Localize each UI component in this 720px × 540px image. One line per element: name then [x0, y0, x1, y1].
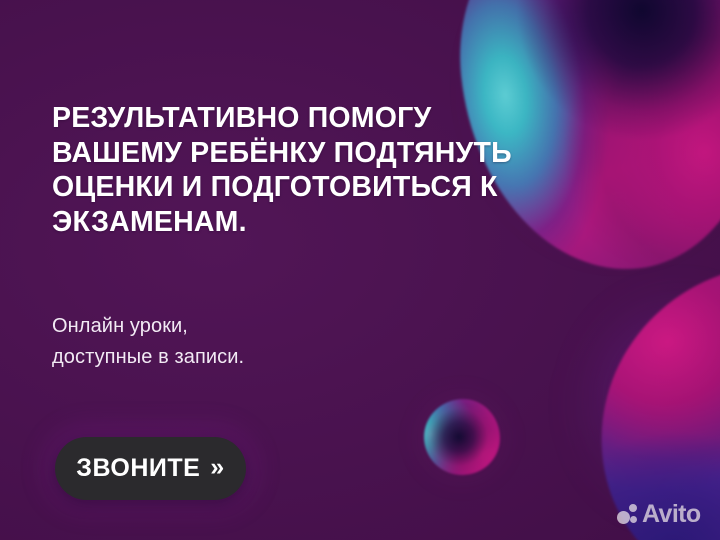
avito-dot-small: [630, 516, 637, 523]
avito-dots-icon: [617, 504, 638, 525]
subtitle: Онлайн уроки, доступные в записи.: [52, 311, 452, 373]
double-chevron-right-icon: »: [210, 455, 224, 480]
avito-watermark: Avito: [617, 502, 701, 527]
headline: РЕЗУЛЬТАТИВНО ПОМОГУ ВАШЕМУ РЕБЁНКУ ПОДТ…: [52, 101, 522, 239]
promo-banner: РЕЗУЛЬТАТИВНО ПОМОГУ ВАШЕМУ РЕБЁНКУ ПОДТ…: [0, 0, 720, 540]
subtitle-line-1: Онлайн уроки,: [52, 311, 452, 342]
subtitle-line-2: доступные в записи.: [52, 342, 452, 373]
banner-content: РЕЗУЛЬТАТИВНО ПОМОГУ ВАШЕМУ РЕБЁНКУ ПОДТ…: [0, 0, 720, 540]
call-cta-label: ЗВОНИТЕ: [76, 456, 200, 481]
call-cta-button[interactable]: ЗВОНИТЕ »: [55, 437, 246, 500]
avito-dot-large: [617, 511, 630, 524]
avito-dot-medium: [629, 504, 637, 512]
avito-wordmark: Avito: [642, 502, 701, 527]
